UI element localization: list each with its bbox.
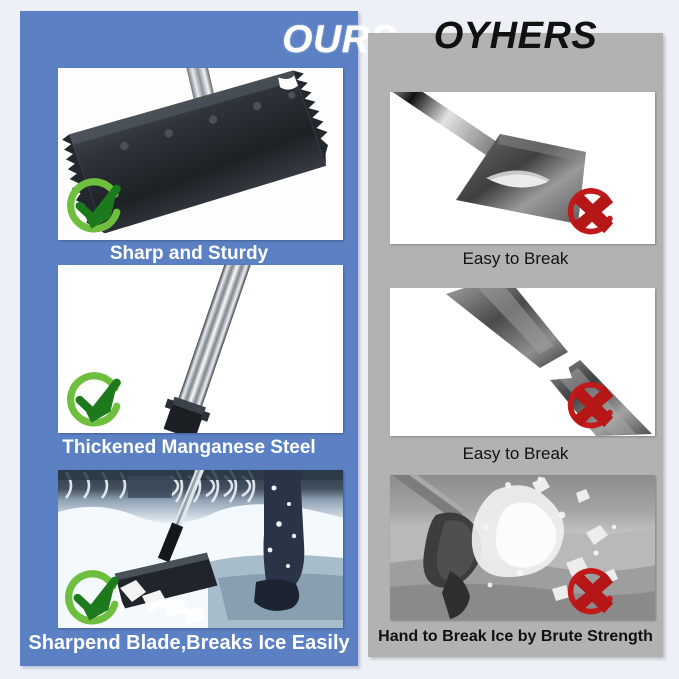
oyhers-caption-2: Easy to Break	[368, 444, 663, 464]
ours-image-card-2	[58, 265, 343, 433]
ours-caption-3: Sharpend Blade,Breaks Ice Easily	[20, 632, 358, 655]
snapped-blade-image	[390, 288, 655, 436]
ours-image-card-1	[58, 68, 343, 240]
ours-caption-1: Sharp and Sturdy	[20, 243, 358, 265]
shoveling-snow-photo	[58, 470, 343, 628]
ours-caption-2: Thickened Manganese Steel	[20, 437, 358, 459]
shovel-handle-image	[58, 265, 343, 433]
ours-image-card-3	[58, 470, 343, 628]
oyhers-image-card-1	[390, 92, 655, 244]
comparison-infographic: OURS	[0, 0, 679, 679]
oyhers-image-card-3	[390, 475, 655, 620]
oyhers-title: OYHERS	[368, 15, 663, 58]
oyhers-image-card-2	[390, 288, 655, 436]
oyhers-caption-3: Hand to Break Ice by Brute Strength	[368, 628, 663, 646]
bent-blade-image	[390, 92, 655, 244]
oyhers-caption-1: Easy to Break	[368, 249, 663, 269]
shovel-blade-image	[58, 68, 343, 240]
sledgehammer-ice-photo	[390, 475, 655, 620]
